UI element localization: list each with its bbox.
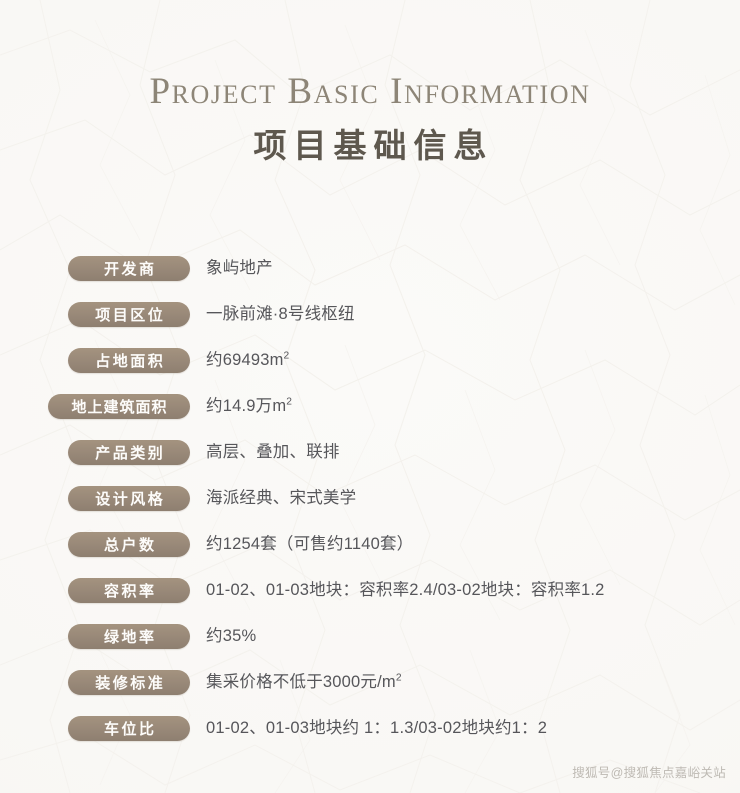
table-row: 开发商 象屿地产: [0, 245, 740, 291]
row-value: 象屿地产: [190, 260, 740, 277]
table-row: 容积率 01-02、01-03地块：容积率2.4/03-02地块：容积率1.2: [0, 567, 740, 613]
row-value: 海派经典、宋式美学: [190, 490, 740, 507]
row-value-text: 集采价格不低于3000元/m: [206, 673, 396, 691]
row-value: 01-02、01-03地块约 1：1.3/03-02地块约1：2: [190, 720, 740, 737]
row-value-text: 约1254套（可售约1140套）: [206, 535, 413, 553]
row-label-badge: 产品类别: [68, 440, 190, 465]
row-value-text: 高层、叠加、联排: [206, 443, 340, 461]
table-row: 项目区位 一脉前滩·8号线枢纽: [0, 291, 740, 337]
row-value-superscript: 2: [284, 350, 290, 361]
row-value-text: 海派经典、宋式美学: [206, 489, 356, 507]
label-cell: 地上建筑面积: [0, 394, 190, 419]
row-value: 高层、叠加、联排: [190, 444, 740, 461]
row-value-text: 一脉前滩·8号线枢纽: [206, 305, 355, 323]
table-row: 占地面积 约69493m2: [0, 337, 740, 383]
row-value-text: 象屿地产: [206, 259, 273, 277]
page-root: Project Basic Information 项目基础信息 开发商 象屿地…: [0, 0, 740, 793]
table-row: 总户数 约1254套（可售约1140套）: [0, 521, 740, 567]
row-label-badge: 开发商: [68, 256, 190, 281]
row-value-text: 约69493m: [206, 351, 284, 369]
label-cell: 装修标准: [0, 670, 190, 695]
page-title-chinese: 项目基础信息: [0, 128, 740, 168]
row-value-superscript: 2: [286, 396, 292, 407]
row-label-badge: 装修标准: [68, 670, 190, 695]
row-label-badge: 项目区位: [68, 302, 190, 327]
row-value: 集采价格不低于3000元/m2: [190, 674, 740, 691]
table-row: 绿地率 约35%: [0, 613, 740, 659]
row-value: 约69493m2: [190, 352, 740, 369]
row-label-badge: 地上建筑面积: [48, 394, 190, 419]
table-row: 车位比 01-02、01-03地块约 1：1.3/03-02地块约1：2: [0, 705, 740, 751]
label-cell: 车位比: [0, 716, 190, 741]
row-value-text: 01-02、01-03地块：容积率2.4/03-02地块：容积率1.2: [206, 581, 605, 599]
label-cell: 总户数: [0, 532, 190, 557]
page-title-english: Project Basic Information: [0, 72, 740, 112]
table-row: 地上建筑面积 约14.9万m2: [0, 383, 740, 429]
label-cell: 开发商: [0, 256, 190, 281]
row-label-badge: 占地面积: [68, 348, 190, 373]
row-value-text: 约35%: [206, 627, 256, 645]
label-cell: 容积率: [0, 578, 190, 603]
row-value-superscript: 2: [396, 672, 402, 683]
table-row: 产品类别 高层、叠加、联排: [0, 429, 740, 475]
row-label-badge: 容积率: [68, 578, 190, 603]
row-value: 01-02、01-03地块：容积率2.4/03-02地块：容积率1.2: [190, 582, 740, 599]
row-label-badge: 车位比: [68, 716, 190, 741]
row-value-text: 01-02、01-03地块约 1：1.3/03-02地块约1：2: [206, 719, 547, 737]
source-watermark: 搜狐号@搜狐焦点嘉峪关站: [572, 762, 726, 781]
row-value-text: 约14.9万m: [206, 397, 286, 415]
row-value: 约35%: [190, 628, 740, 645]
label-cell: 绿地率: [0, 624, 190, 649]
row-label-badge: 总户数: [68, 532, 190, 557]
row-value: 约14.9万m2: [190, 398, 740, 415]
page-header: Project Basic Information 项目基础信息: [0, 0, 740, 168]
label-cell: 项目区位: [0, 302, 190, 327]
project-info-table: 开发商 象屿地产 项目区位 一脉前滩·8号线枢纽 占地面积 约69493m2 地…: [0, 245, 740, 751]
table-row: 装修标准 集采价格不低于3000元/m2: [0, 659, 740, 705]
row-value: 一脉前滩·8号线枢纽: [190, 306, 740, 323]
row-label-badge: 设计风格: [68, 486, 190, 511]
table-row: 设计风格 海派经典、宋式美学: [0, 475, 740, 521]
label-cell: 产品类别: [0, 440, 190, 465]
row-label-badge: 绿地率: [68, 624, 190, 649]
label-cell: 占地面积: [0, 348, 190, 373]
label-cell: 设计风格: [0, 486, 190, 511]
row-value: 约1254套（可售约1140套）: [190, 536, 740, 553]
